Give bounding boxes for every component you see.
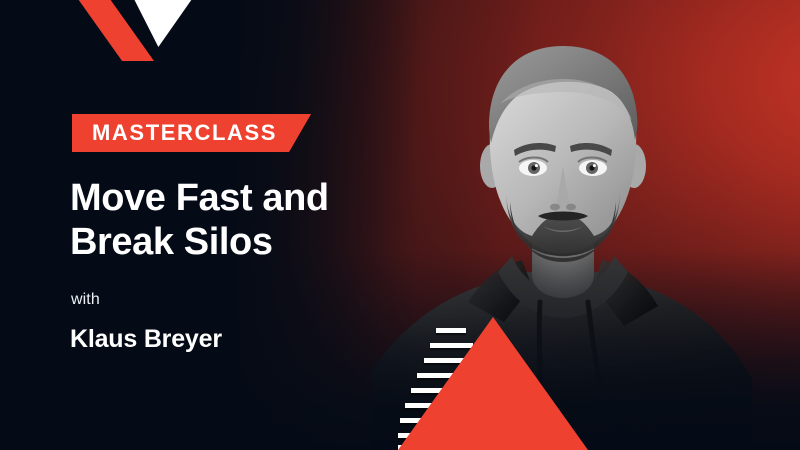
page-title: Move Fast and Break Silos (70, 176, 430, 265)
logo-mark (78, 0, 190, 61)
stripe-bar (430, 343, 473, 348)
stripe-bar (436, 328, 466, 333)
page-title-line-1: Move Fast and (70, 176, 430, 220)
title-card: arhartt MASTERCLASS Move Fast and Break … (0, 0, 800, 450)
masterclass-badge-label: MASTERCLASS (92, 122, 277, 144)
presenter-name: Klaus Breyer (70, 325, 222, 354)
chevron-white-icon (134, 0, 192, 47)
page-title-line-2: Break Silos (70, 220, 430, 264)
masterclass-badge: MASTERCLASS (72, 114, 311, 152)
presenter-with-label: with (71, 291, 100, 309)
